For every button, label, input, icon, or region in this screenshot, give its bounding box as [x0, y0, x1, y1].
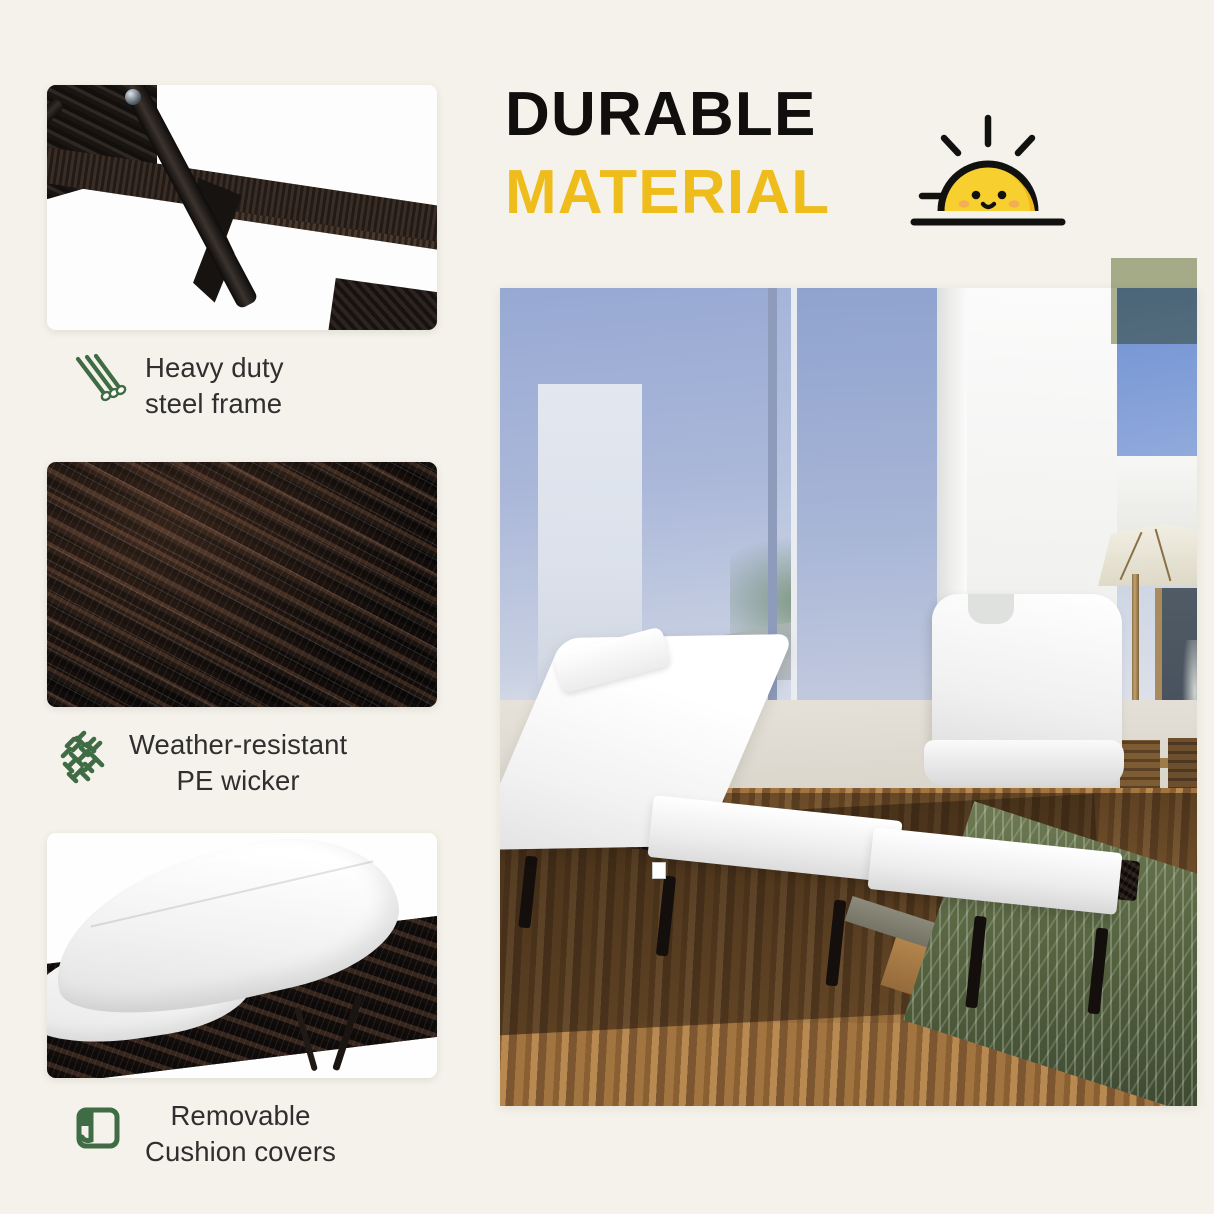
features-column: Heavy duty steel frame — [0, 0, 470, 1214]
sunrise-icon — [908, 112, 1068, 230]
feature-label-line1: Weather-resistant — [129, 729, 347, 760]
pe-wicker-photo — [47, 462, 437, 707]
hero-scene — [500, 288, 1197, 1106]
steel-tubes-icon — [69, 350, 127, 408]
feature-label-line2: Cushion covers — [145, 1136, 336, 1167]
feature-image-removable-covers — [47, 833, 437, 1078]
headline-line2: MATERIAL — [505, 162, 830, 224]
feature-label-line2: PE wicker — [177, 765, 300, 796]
feature-card-steel-frame[interactable]: Heavy duty steel frame — [47, 85, 437, 422]
feature-card-pe-wicker[interactable]: Weather-resistant PE wicker — [47, 462, 437, 799]
removable-cover-icon — [69, 1098, 127, 1156]
feature-label-line1: Heavy duty — [145, 352, 284, 383]
feature-label-removable-covers: Removable Cushion covers — [145, 1096, 336, 1170]
headline: DURABLE MATERIAL — [505, 84, 830, 224]
feature-label-line1: Removable — [170, 1100, 310, 1131]
woven-wicker-icon — [53, 727, 111, 785]
feature-label-steel-frame: Heavy duty steel frame — [145, 348, 284, 422]
feature-image-pe-wicker — [47, 462, 437, 707]
feature-caption-pe-wicker: Weather-resistant PE wicker — [47, 725, 437, 799]
cushion-cover-photo — [47, 833, 437, 1078]
feature-caption-steel-frame: Heavy duty steel frame — [47, 348, 437, 422]
hero-image — [500, 288, 1197, 1106]
headline-line1: DURABLE — [505, 84, 830, 146]
accent-square — [1111, 258, 1197, 344]
feature-card-removable-covers[interactable]: Removable Cushion covers — [47, 833, 437, 1170]
feature-image-steel-frame — [47, 85, 437, 330]
feature-label-line2: steel frame — [145, 388, 282, 419]
feature-label-pe-wicker: Weather-resistant PE wicker — [129, 725, 347, 799]
feature-caption-removable-covers: Removable Cushion covers — [47, 1096, 437, 1170]
steel-frame-photo — [47, 85, 437, 330]
